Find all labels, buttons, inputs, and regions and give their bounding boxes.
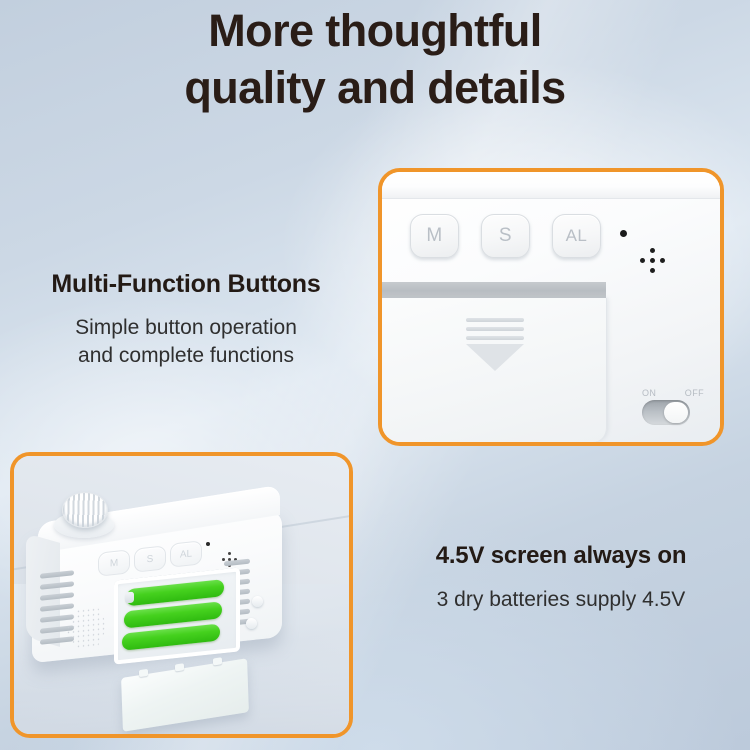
device-button-set-rear-label: S xyxy=(147,553,154,565)
indicator-led-dot xyxy=(620,230,627,237)
power-switch-knob[interactable] xyxy=(664,402,688,423)
feature-text-left: Multi-Function Buttons Simple button ope… xyxy=(0,268,372,370)
indicator-led-dot-rear xyxy=(206,542,210,546)
device-button-mode-label: M xyxy=(426,225,442,247)
device-button-alarm-rear-label: AL xyxy=(180,548,192,560)
feature-left-title: Multi-Function Buttons xyxy=(0,268,372,300)
battery-door-ridge xyxy=(466,327,524,331)
feature-left-desc-line-2: and complete functions xyxy=(0,342,372,370)
power-switch[interactable]: ON OFF xyxy=(640,388,706,428)
product-feature-banner: More thoughtful quality and details M S … xyxy=(0,0,750,750)
feature-right-description: 3 dry batteries supply 4.5V xyxy=(372,586,750,614)
device-button-set-label: S xyxy=(499,225,512,247)
device-button-alarm[interactable]: AL xyxy=(552,214,601,258)
sensor-port[interactable] xyxy=(246,618,257,629)
battery-door-ridge xyxy=(466,336,524,340)
battery-door xyxy=(382,298,607,442)
battery-compartment xyxy=(114,567,240,664)
volume-knob[interactable] xyxy=(62,492,108,528)
device-button-mode-rear[interactable]: M xyxy=(98,549,130,576)
battery-door-top-strip xyxy=(382,282,606,298)
device-button-set[interactable]: S xyxy=(481,214,530,258)
product-photo-buttons: M S AL ON OFF xyxy=(378,168,724,446)
power-switch-off-label: OFF xyxy=(685,388,704,398)
product-photo-battery: M S AL xyxy=(10,452,353,738)
feature-left-desc-line-1: Simple button operation xyxy=(75,316,297,339)
headline-line-1: More thoughtful xyxy=(208,5,541,56)
battery-cover-tab xyxy=(213,657,222,665)
device-rear-view: M S AL ON OFF xyxy=(382,172,720,442)
device-button-set-rear[interactable]: S xyxy=(134,545,166,572)
device-button-alarm-label: AL xyxy=(566,226,588,246)
reset-port[interactable] xyxy=(252,596,263,607)
arrow-down-icon xyxy=(466,344,524,371)
battery-cover-tab xyxy=(139,669,148,677)
power-switch-track[interactable] xyxy=(642,400,690,425)
power-switch-on-label: ON xyxy=(642,388,656,398)
device-top-rim xyxy=(382,172,720,199)
headline-line-2: quality and details xyxy=(0,59,750,116)
device-button-alarm-rear[interactable]: AL xyxy=(170,540,202,567)
sensor-vent-plus-icon xyxy=(640,248,666,274)
device-top-highlight xyxy=(402,175,666,184)
feature-right-desc-line-1: 3 dry batteries supply 4.5V xyxy=(437,588,686,611)
feature-right-title: 4.5V screen always on xyxy=(372,540,750,572)
device-button-mode[interactable]: M xyxy=(410,214,459,258)
battery-cell xyxy=(122,623,220,650)
device-button-mode-rear-label: M xyxy=(110,557,118,569)
battery-terminal xyxy=(125,592,134,604)
photo-scene: M S AL xyxy=(14,456,349,734)
feature-left-description: Simple button operation and complete fun… xyxy=(0,314,372,370)
battery-cover-tab xyxy=(175,663,184,671)
page-title: More thoughtful quality and details xyxy=(0,2,750,116)
feature-text-right: 4.5V screen always on 3 dry batteries su… xyxy=(372,540,750,614)
battery-door-ridge xyxy=(466,318,524,322)
